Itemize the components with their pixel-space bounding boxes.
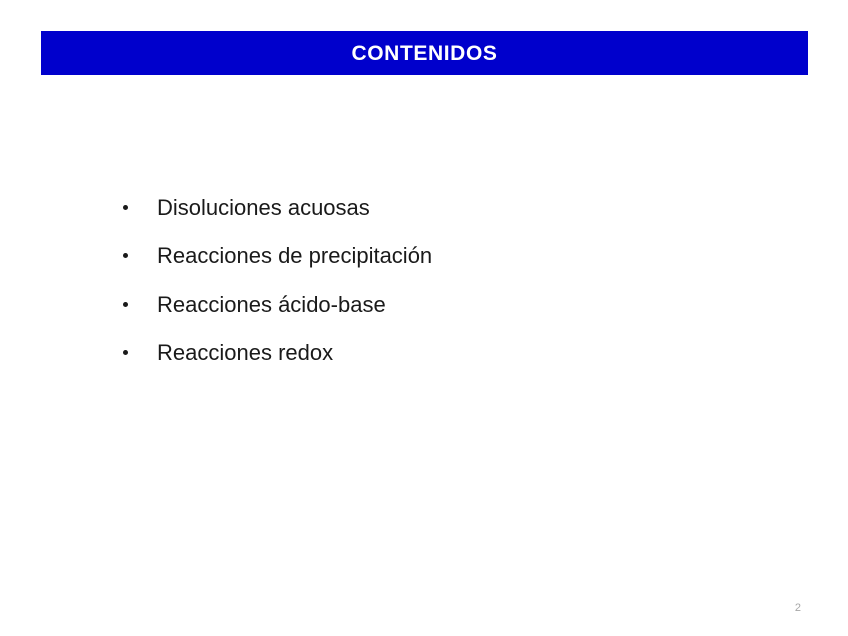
bullet-dot-icon xyxy=(123,253,128,258)
list-item-label: Reacciones ácido-base xyxy=(157,292,386,318)
bullet-dot-icon xyxy=(123,350,128,355)
presentation-slide: CONTENIDOS Disoluciones acuosas Reaccion… xyxy=(0,0,848,636)
list-item: Reacciones de precipitación xyxy=(118,243,758,291)
list-item-label: Reacciones redox xyxy=(157,340,333,366)
bullet-dot-icon xyxy=(123,302,128,307)
list-item-label: Disoluciones acuosas xyxy=(157,195,370,221)
contents-bullet-list: Disoluciones acuosas Reacciones de preci… xyxy=(118,195,758,389)
list-item: Reacciones ácido-base xyxy=(118,292,758,340)
page-title: CONTENIDOS xyxy=(351,43,497,64)
list-item: Reacciones redox xyxy=(118,340,758,388)
slide-title-banner: CONTENIDOS xyxy=(41,31,808,75)
bullet-dot-icon xyxy=(123,205,128,210)
list-item: Disoluciones acuosas xyxy=(118,195,758,243)
slide-page-number: 2 xyxy=(795,603,801,614)
list-item-label: Reacciones de precipitación xyxy=(157,243,432,269)
